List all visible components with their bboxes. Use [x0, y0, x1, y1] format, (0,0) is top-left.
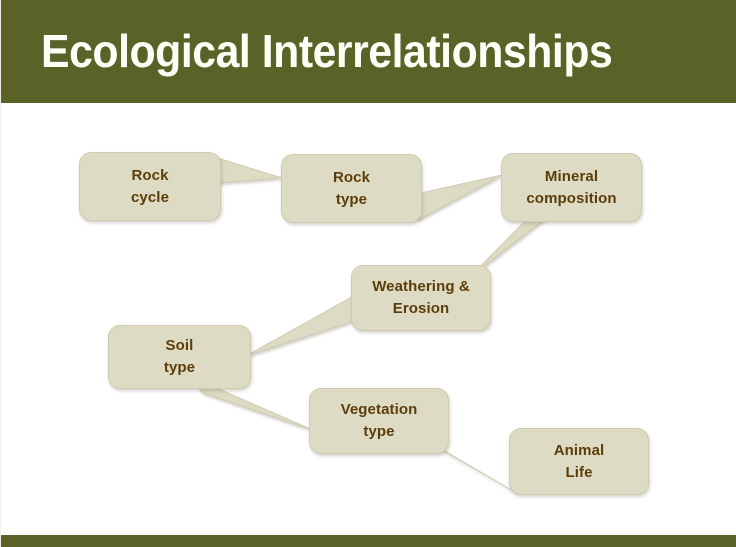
slide-canvas: Ecological Interrelationships [0, 0, 736, 547]
page-title: Ecological Interrelationships [41, 22, 612, 80]
node-rock-cycle[interactable]: Rock cycle [79, 152, 221, 221]
node-soil-type[interactable]: Soil type [108, 325, 251, 389]
node-label-rock-cycle: Rock cycle [131, 165, 169, 209]
node-rock-type[interactable]: Rock type [281, 154, 422, 223]
diagram-area: Rock cycle Rock type Mineral composition… [1, 103, 736, 535]
node-vegetation-type[interactable]: Vegetation type [309, 388, 449, 454]
connector-weathering-erosion-to-soil-type [246, 293, 363, 356]
connector-rock-cycle-to-rock-type [211, 156, 282, 183]
node-label-mineral-composition: Mineral composition [526, 166, 616, 210]
connector-rock-type-to-mineral-composition [412, 175, 502, 220]
node-animal-life[interactable]: Animal Life [509, 428, 649, 495]
footer-band [1, 535, 736, 547]
node-label-rock-type: Rock type [333, 167, 370, 211]
node-label-animal-life: Animal Life [554, 440, 605, 484]
node-label-weathering-erosion: Weathering & Erosion [372, 276, 470, 320]
title-band: Ecological Interrelationships [1, 0, 736, 103]
node-label-soil-type: Soil type [164, 335, 195, 379]
node-mineral-composition[interactable]: Mineral composition [501, 153, 642, 222]
node-weathering-erosion[interactable]: Weathering & Erosion [351, 265, 491, 331]
node-label-vegetation-type: Vegetation type [341, 399, 418, 443]
